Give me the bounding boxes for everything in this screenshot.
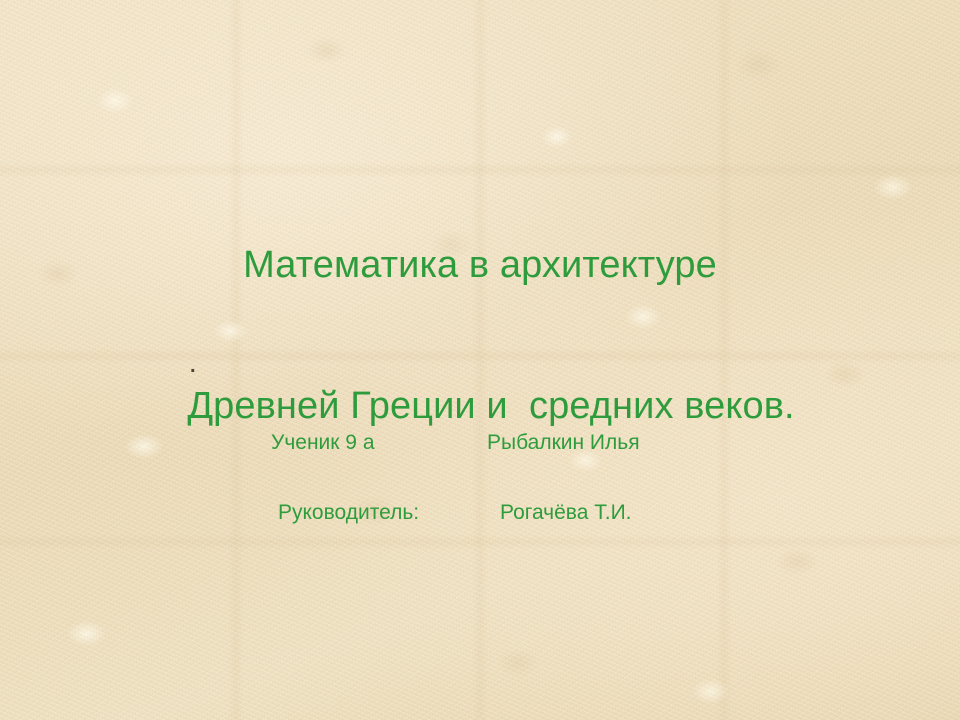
stray-period-mark: . [190,356,196,376]
supervisor-role-label: Руководитель: [258,500,494,526]
credit-row-supervisor: Руководитель: Рогачёва Т.И. [258,500,728,526]
slide-content: Математика в архитектуре Древней Греции … [0,0,960,720]
title-line-2: Древней Греции и средних веков. [0,383,960,430]
presentation-slide: Математика в архитектуре Древней Греции … [0,0,960,720]
student-name: Рыбалкин Илья [487,430,640,456]
student-role-label: Ученик 9 а [258,430,487,456]
credits-block: Ученик 9 а Рыбалкин Илья Руководитель: Р… [258,430,728,526]
supervisor-name: Рогачёва Т.И. [494,500,632,526]
title-line-1: Математика в архитектуре [0,242,960,289]
credit-row-student: Ученик 9 а Рыбалкин Илья [258,430,728,456]
